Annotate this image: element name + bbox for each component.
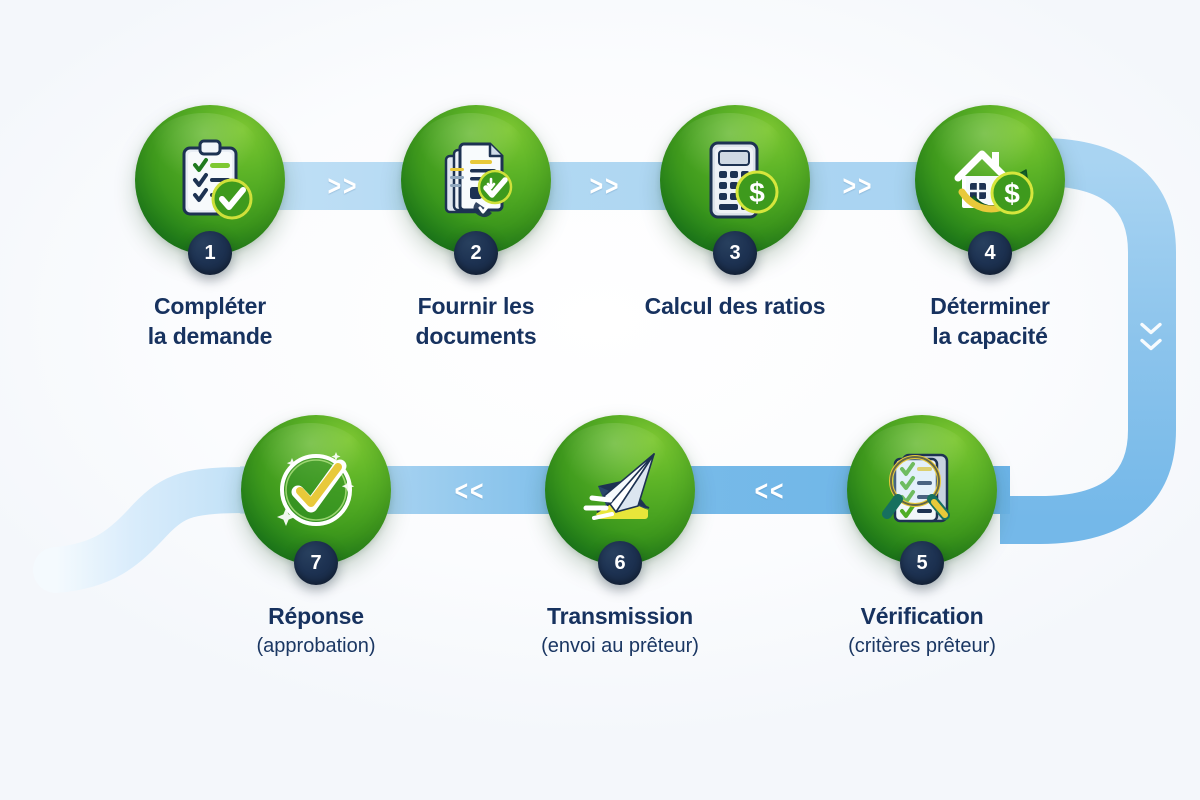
svg-text:$: $ [749, 177, 765, 208]
flow-chevron-forward-2: >> [590, 172, 621, 201]
step-node-3[interactable]: $ 3 Calcul des ratios [620, 105, 850, 323]
step-7-labels: Réponse (approbation) [201, 601, 431, 659]
step-node-5[interactable]: 5 Vérification (critères prêteur) [807, 415, 1037, 659]
step-2-title: Fournir les documents [361, 291, 591, 352]
step-3-number-badge: 3 [713, 231, 757, 275]
step-2-labels: Fournir les documents [361, 291, 591, 352]
step-3-disc: $ 3 [660, 105, 810, 255]
step-node-2[interactable]: 2 Fournir les documents [361, 105, 591, 354]
step-5-labels: Vérification (critères prêteur) [807, 601, 1037, 659]
step-4-number-badge: 4 [968, 231, 1012, 275]
step-node-7[interactable]: 7 Réponse (approbation) [201, 415, 431, 659]
step-node-4[interactable]: $ 4 Déterminer la capacité [875, 105, 1105, 354]
step-3-labels: Calcul des ratios [620, 291, 850, 321]
step-5-disc: 5 [847, 415, 997, 565]
down-double-chevron-icon [1140, 323, 1162, 352]
step-6-number-badge: 6 [598, 541, 642, 585]
step-4-disc: $ 4 [915, 105, 1065, 255]
step-2-disc: 2 [401, 105, 551, 255]
step-5-subtitle: (critères prêteur) [807, 633, 1037, 659]
step-1-number-badge: 1 [188, 231, 232, 275]
step-1-disc: 1 [135, 105, 285, 255]
step-1-title: Compléter la demande [95, 291, 325, 352]
flow-chevron-back-1: << [455, 477, 486, 506]
svg-text:$: $ [1004, 178, 1020, 209]
step-4-labels: Déterminer la capacité [875, 291, 1105, 352]
infographic-canvas: >> >> >> << << [0, 0, 1200, 800]
step-3-title: Calcul des ratios [620, 291, 850, 321]
step-node-6[interactable]: 6 Transmission (envoi au prêteur) [505, 415, 735, 659]
step-2-number-badge: 2 [454, 231, 498, 275]
step-7-disc: 7 [241, 415, 391, 565]
flow-chevron-forward-1: >> [328, 172, 359, 201]
step-5-number-badge: 5 [900, 541, 944, 585]
step-node-1[interactable]: 1 Compléter la demande [95, 105, 325, 354]
step-6-disc: 6 [545, 415, 695, 565]
step-7-title: Réponse [201, 601, 431, 631]
step-4-title: Déterminer la capacité [875, 291, 1105, 352]
step-7-number-badge: 7 [294, 541, 338, 585]
flow-chevron-back-2: << [755, 477, 786, 506]
step-5-title: Vérification [807, 601, 1037, 631]
step-6-title: Transmission [505, 601, 735, 631]
step-7-subtitle: (approbation) [201, 633, 431, 659]
step-6-labels: Transmission (envoi au prêteur) [505, 601, 735, 659]
step-1-labels: Compléter la demande [95, 291, 325, 352]
step-6-subtitle: (envoi au prêteur) [505, 633, 735, 659]
